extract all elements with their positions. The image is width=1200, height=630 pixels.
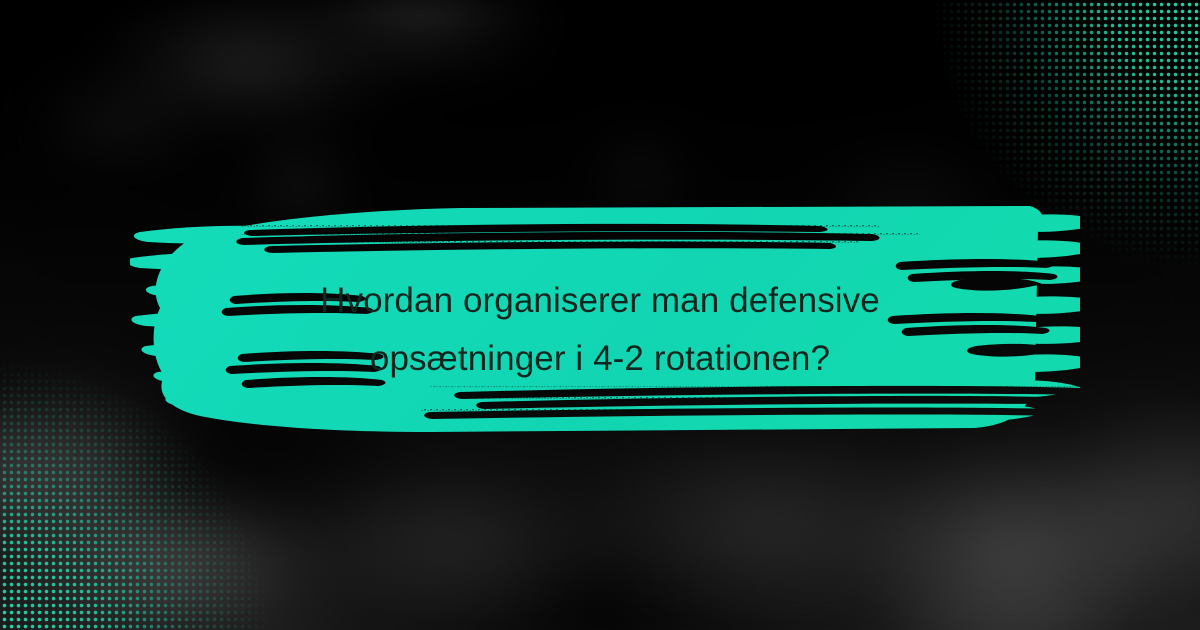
- poster-canvas: Hvordan organiserer man defensive opsætn…: [0, 0, 1200, 630]
- brush-stroke-banner: [130, 180, 1080, 450]
